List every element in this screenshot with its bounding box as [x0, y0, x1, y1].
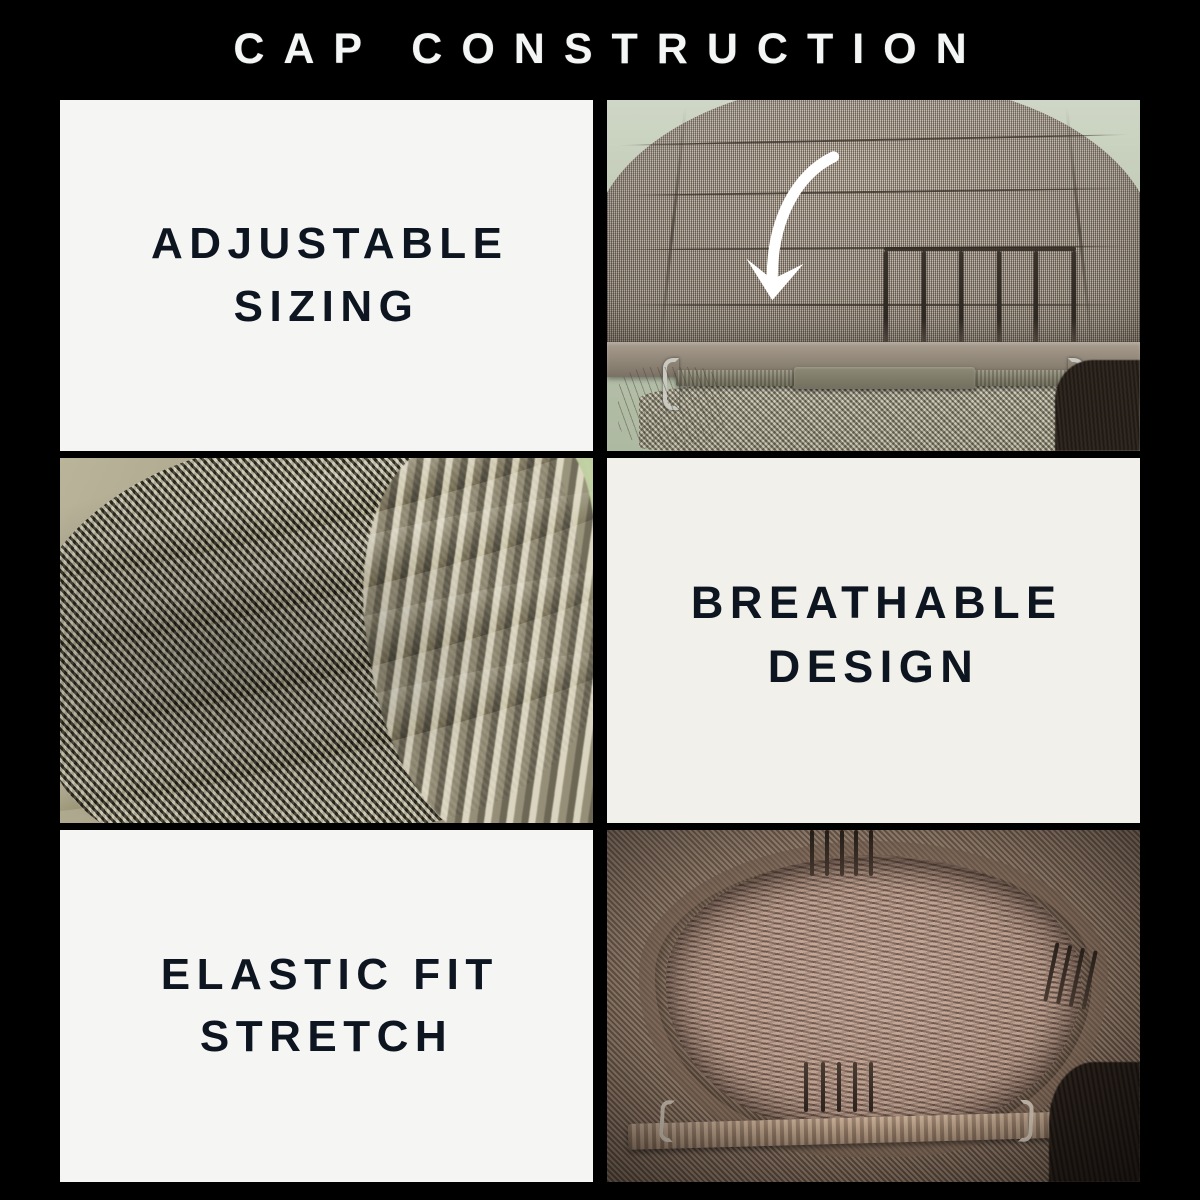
feature-label-elastic-fit-stretch: ELASTIC FIT STRETCH — [130, 944, 522, 1069]
feature-card-breathable-design: BREATHABLE DESIGN — [607, 458, 1140, 823]
photo-breathable-mesh-closeup — [60, 458, 593, 823]
curved-down-arrow-icon — [708, 149, 868, 332]
photo-content — [60, 458, 593, 823]
feature-card-adjustable-sizing: ADJUSTABLE SIZING — [60, 100, 593, 451]
photo-content — [607, 100, 1140, 451]
feature-label-breathable-design: BREATHABLE DESIGN — [660, 571, 1086, 699]
hair-strands — [1055, 360, 1140, 451]
photo-content — [607, 830, 1140, 1182]
feature-grid: ADJUSTABLE SIZING — [60, 100, 1140, 1182]
feature-card-elastic-fit-stretch: ELASTIC FIT STRETCH — [60, 830, 593, 1182]
photo-shading — [60, 458, 593, 823]
photo-wig-cap-interior-elastic — [607, 830, 1140, 1182]
page-title: CAP CONSTRUCTION — [214, 28, 985, 71]
photo-shading — [607, 830, 1140, 1182]
stray-hair-wisps — [618, 367, 725, 444]
infographic-root: CAP CONSTRUCTION ADJUSTABLE SIZING — [0, 0, 1200, 1200]
feature-label-adjustable-sizing: ADJUSTABLE SIZING — [120, 213, 532, 338]
strap-pad — [794, 367, 975, 389]
photo-wig-cap-back-adjustable-strap — [607, 100, 1140, 451]
header: CAP CONSTRUCTION — [0, 0, 1200, 98]
